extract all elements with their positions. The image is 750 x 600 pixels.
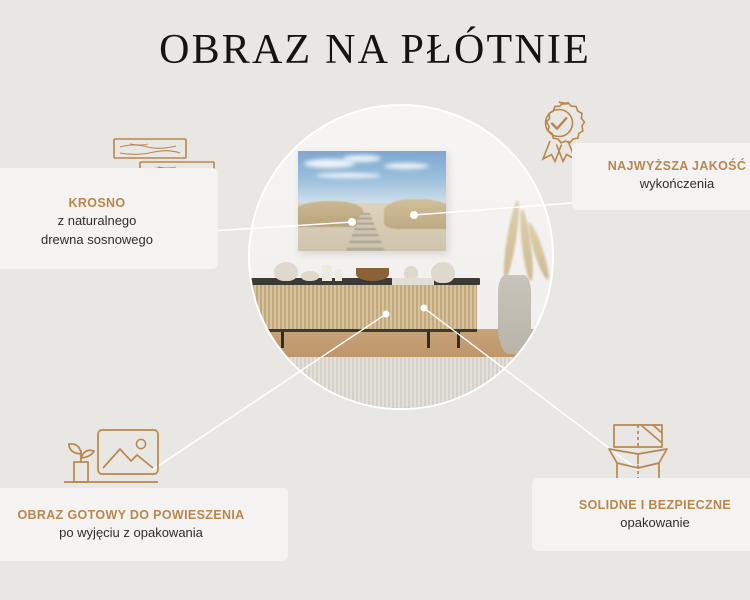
sideboard-leg [457, 332, 460, 347]
feature-title-krosno: KROSNO [0, 194, 204, 212]
rug [248, 357, 554, 408]
sideboard-leg [427, 332, 430, 347]
center-circle-photo [248, 104, 554, 410]
page-title: OBRAZ NA PŁÓTNIE [0, 26, 750, 74]
framed-picture-plant-icon [58, 424, 170, 494]
feature-title-gotowy: OBRAZ GOTOWY DO POWIESZENIA [0, 506, 274, 524]
sideboard-leg [281, 332, 284, 347]
decor-books [392, 278, 434, 285]
feature-title-jakosc: NAJWYŻSZA JAKOŚĆ [586, 157, 750, 175]
decor-candle [322, 265, 331, 282]
feature-subtitle-krosno-line2: drewna sosnowego [0, 231, 204, 249]
feature-box-opakowanie[interactable]: SOLIDNE I BEZPIECZNE opakowanie [532, 478, 750, 551]
decor-candle [335, 269, 343, 281]
feature-subtitle-krosno-line1: z naturalnego [0, 212, 204, 230]
floor-vase [498, 275, 531, 354]
sideboard [248, 278, 480, 347]
wall-canvas-artwork [298, 151, 446, 251]
decor-vase [431, 262, 455, 283]
feature-box-gotowy[interactable]: OBRAZ GOTOWY DO POWIESZENIA po wyjęciu z… [0, 488, 288, 561]
pampas-stem [501, 199, 522, 278]
feature-box-jakosc[interactable]: NAJWYŻSZA JAKOŚĆ wykończenia [572, 143, 750, 210]
sideboard-leg [252, 332, 255, 347]
feature-title-opakowanie: SOLIDNE I BEZPIECZNE [546, 496, 750, 514]
room-scene [250, 106, 552, 408]
feature-subtitle-opakowanie: opakowanie [546, 514, 750, 532]
feature-subtitle-jakosc: wykończenia [586, 175, 750, 193]
artwork-dune-left [298, 201, 363, 227]
feature-box-krosno[interactable]: KROSNO z naturalnego drewna sosnowego [0, 168, 218, 269]
decor-vase [274, 262, 298, 282]
sideboard-body [248, 285, 477, 332]
feature-subtitle-gotowy: po wyjęciu z opakowania [0, 524, 274, 542]
artwork-dune-right [384, 199, 446, 229]
